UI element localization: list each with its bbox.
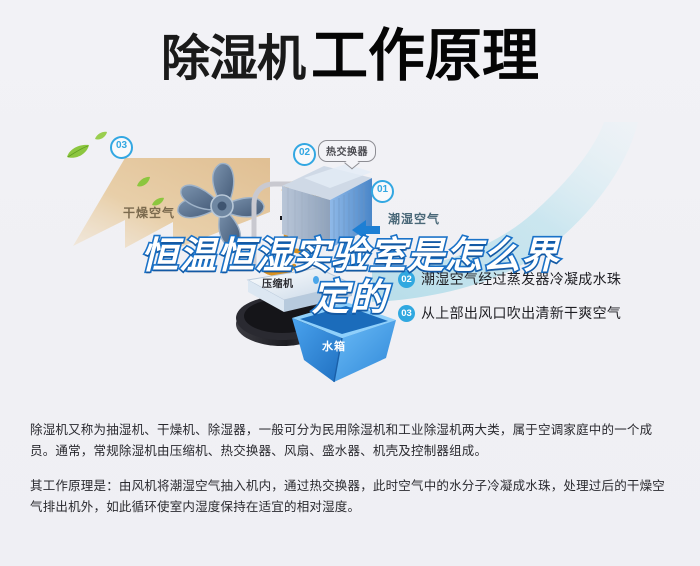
humid-air-label: 潮湿空气 xyxy=(388,210,440,227)
legend-item: 03 从上部出风口吹出清新干爽空气 xyxy=(398,296,698,330)
diagram-badge-03: 03 xyxy=(110,136,133,159)
water-tank-label: 水箱 xyxy=(322,338,346,354)
legend-badge: 03 xyxy=(398,305,415,322)
heat-exchanger-coil xyxy=(276,164,386,264)
title-part-2: 工作原理 xyxy=(311,24,539,88)
heat-exchanger-callout: 热交换器 xyxy=(318,140,376,162)
legend-badge: 02 xyxy=(398,271,415,288)
diagram-badge-02: 02 xyxy=(293,143,316,166)
paragraph-1: 除湿机又称为抽湿机、干燥机、除湿器，一般可分为民用除湿机和工业除湿机两大类，属于… xyxy=(30,420,674,462)
page-title: 除湿机工作原理 xyxy=(0,28,700,85)
leaf-icon xyxy=(95,128,108,146)
leaf-icon xyxy=(136,175,151,193)
leaf-icon xyxy=(66,144,90,165)
leaf-icon xyxy=(152,194,165,212)
legend-label: 从上部出风口吹出清新干爽空气 xyxy=(421,303,621,323)
page-root: 除湿机工作原理 xyxy=(0,0,700,566)
title-part-1: 除湿机 xyxy=(161,32,305,86)
paragraph-2: 其工作原理是：由风机将潮湿空气抽入机内，通过热交换器，此时空气中的水分子冷凝成水… xyxy=(30,476,674,518)
legend-label: 潮湿空气经过蒸发器冷凝成水珠 xyxy=(421,269,621,289)
article-body: 除湿机又称为抽湿机、干燥机、除湿器，一般可分为民用除湿机和工业除湿机两大类，属于… xyxy=(30,420,674,518)
compressor-label: 压缩机 xyxy=(262,275,294,290)
legend-list: 02 潮湿空气经过蒸发器冷凝成水珠 03 从上部出风口吹出清新干爽空气 xyxy=(398,262,698,330)
legend-item: 02 潮湿空气经过蒸发器冷凝成水珠 xyxy=(398,262,698,296)
diagram-badge-01: 01 xyxy=(371,180,394,203)
